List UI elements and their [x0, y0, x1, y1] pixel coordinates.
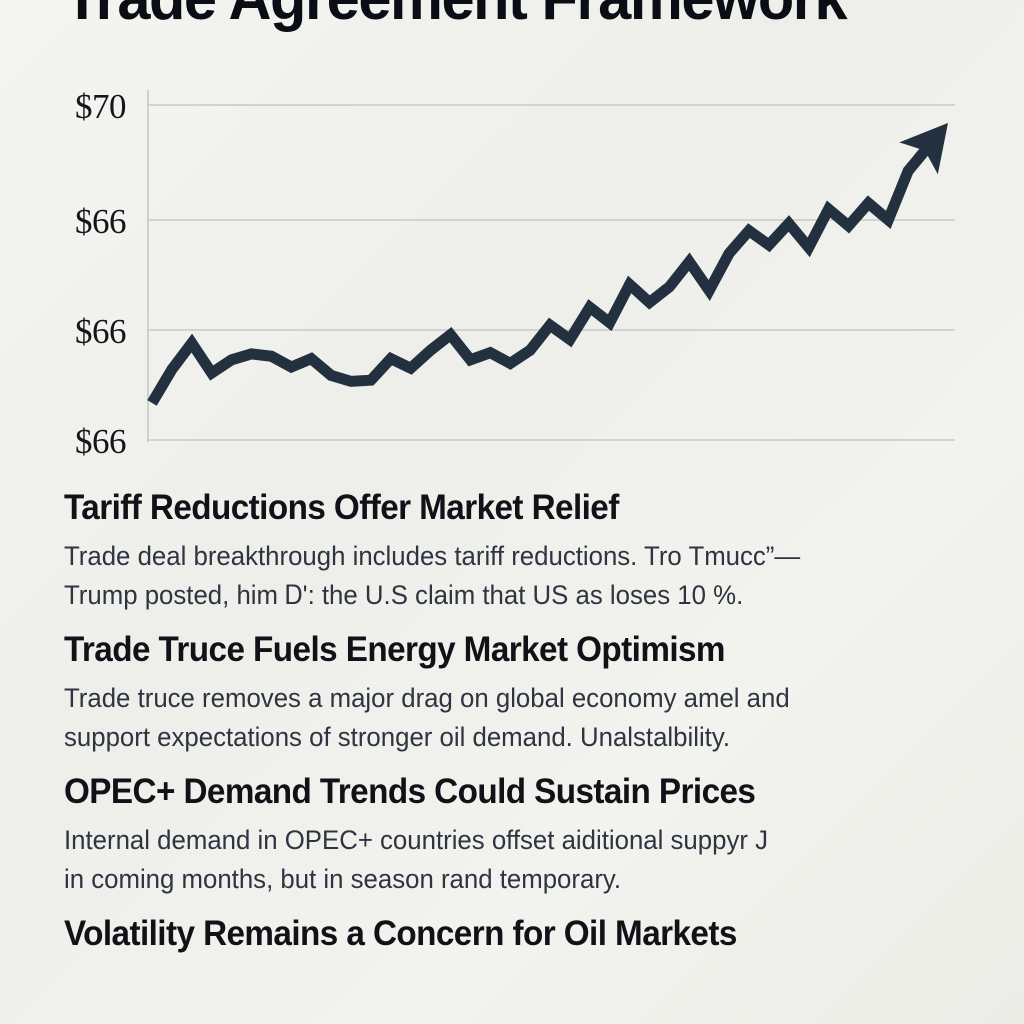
section-heading: OPEC+ Demand Trends Could Sustain Prices — [64, 771, 924, 812]
page-title: Trade Agreement Framework — [64, 0, 928, 31]
y-tick-label-0: $70 — [75, 87, 126, 127]
chart-data-line — [152, 147, 928, 403]
y-tick-label-2: $66 — [75, 312, 126, 352]
chart-y-axis-labels: $70 $66 $66 $66 — [0, 70, 148, 470]
section-body-line: Trade truce removes a major drag on glob… — [64, 679, 928, 717]
chart-gridlines — [148, 105, 955, 440]
section-volatility: Volatility Remains a Concern for Oil Mar… — [64, 913, 969, 954]
section-heading: Volatility Remains a Concern for Oil Mar… — [64, 913, 924, 954]
y-tick-label-3: $66 — [75, 422, 126, 462]
section-body-line: in coming months, but in season rand tem… — [64, 860, 928, 898]
section-body-line: Internal demand in OPEC+ countries offse… — [64, 821, 928, 859]
section-body: Trade deal breakthrough includes tariff … — [64, 537, 928, 614]
section-tariff-reductions: Tariff Reductions Offer Market Relief Tr… — [64, 487, 969, 614]
section-body-line: support expectations of stronger oil dem… — [64, 718, 928, 756]
chart-svg — [0, 70, 1024, 470]
section-heading: Tariff Reductions Offer Market Relief — [64, 487, 924, 528]
infographic-page: Trade Agreement Framework $70 $66 $66 $6… — [0, 0, 1024, 1024]
section-body-line: Trade deal breakthrough includes tariff … — [64, 537, 928, 575]
y-tick-label-1: $66 — [75, 202, 126, 242]
article-sections: Tariff Reductions Offer Market Relief Tr… — [64, 487, 969, 963]
section-body: Internal demand in OPEC+ countries offse… — [64, 821, 928, 898]
line-chart — [0, 70, 1024, 470]
section-trade-truce: Trade Truce Fuels Energy Market Optimism… — [64, 629, 969, 756]
section-body-line: Trump posted, him Ꭰ': the U.S claim that… — [64, 576, 928, 614]
section-heading: Trade Truce Fuels Energy Market Optimism — [64, 629, 924, 670]
section-opec-demand: OPEC+ Demand Trends Could Sustain Prices… — [64, 771, 969, 898]
section-body: Trade truce removes a major drag on glob… — [64, 679, 928, 756]
